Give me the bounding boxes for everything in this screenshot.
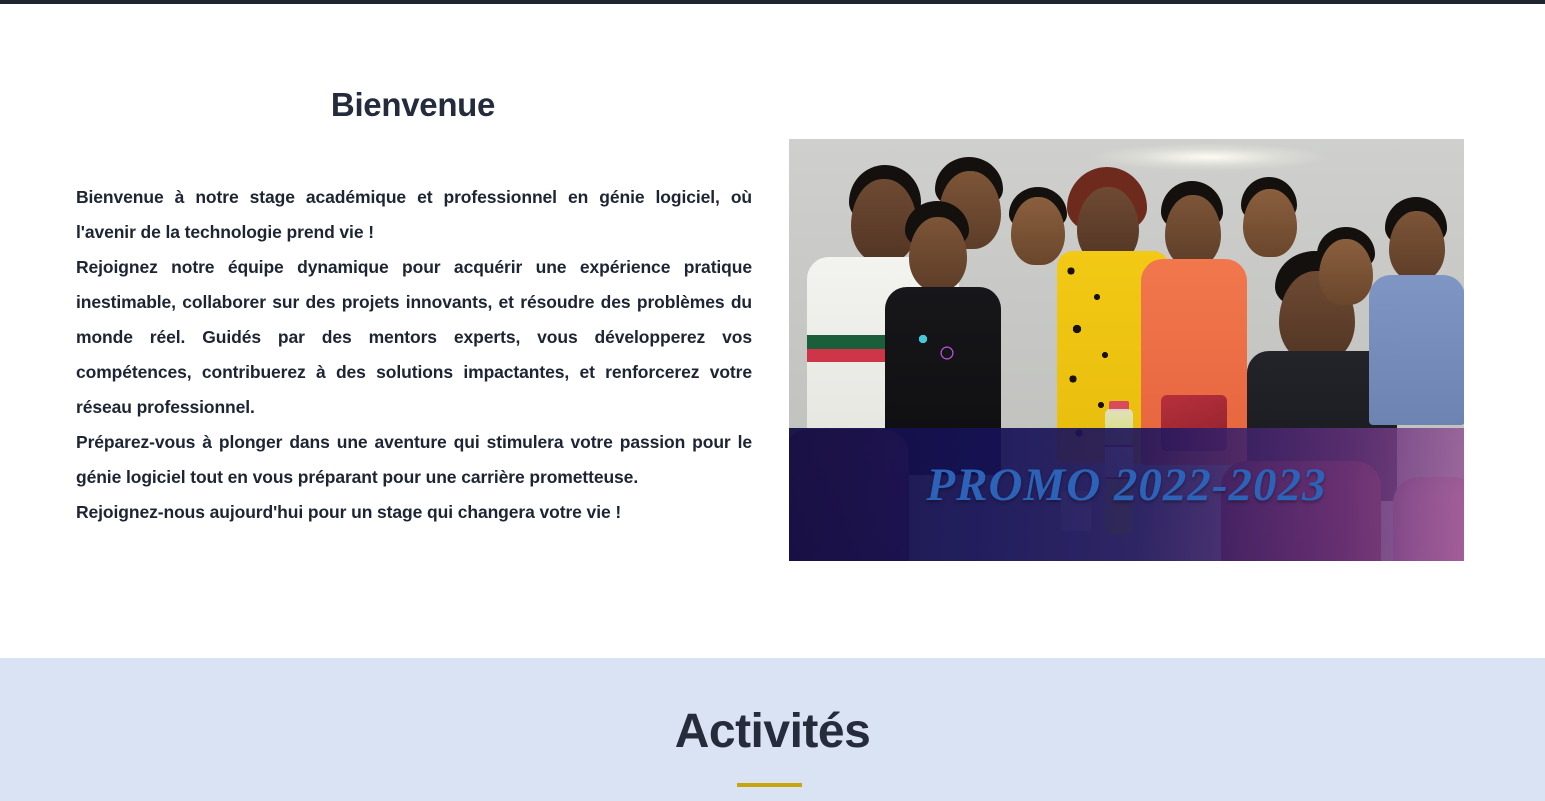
person-head [1011,197,1065,265]
shirt-print [907,319,965,367]
activities-title-underline [737,783,802,787]
page-title: Bienvenue [0,86,826,124]
activities-title: Activités [0,704,1545,759]
person-head [1243,189,1297,257]
welcome-section: Bienvenue Bienvenue à notre stage académ… [0,4,1545,658]
welcome-paragraph-4: Rejoignez-nous aujourd'hui pour un stage… [76,495,752,530]
welcome-paragraph-2: Rejoignez notre équipe dynamique pour ac… [76,250,752,425]
promo-banner: PROMO 2022-2023 [789,428,1464,561]
welcome-paragraph-3: Préparez-vous à plonger dans une aventur… [76,425,752,495]
person-torso [1369,275,1464,425]
person-head [1319,239,1373,305]
welcome-body-text: Bienvenue à notre stage académique et pr… [76,180,752,530]
person-head [1389,211,1445,281]
activities-section: Activités [0,658,1545,801]
welcome-paragraph-1: Bienvenue à notre stage académique et pr… [76,180,752,250]
person-head [1165,195,1221,267]
promo-banner-label: PROMO 2022-2023 [926,458,1326,512]
promo-image-card: PROMO 2022-2023 [789,139,1464,561]
person-head [909,217,967,291]
